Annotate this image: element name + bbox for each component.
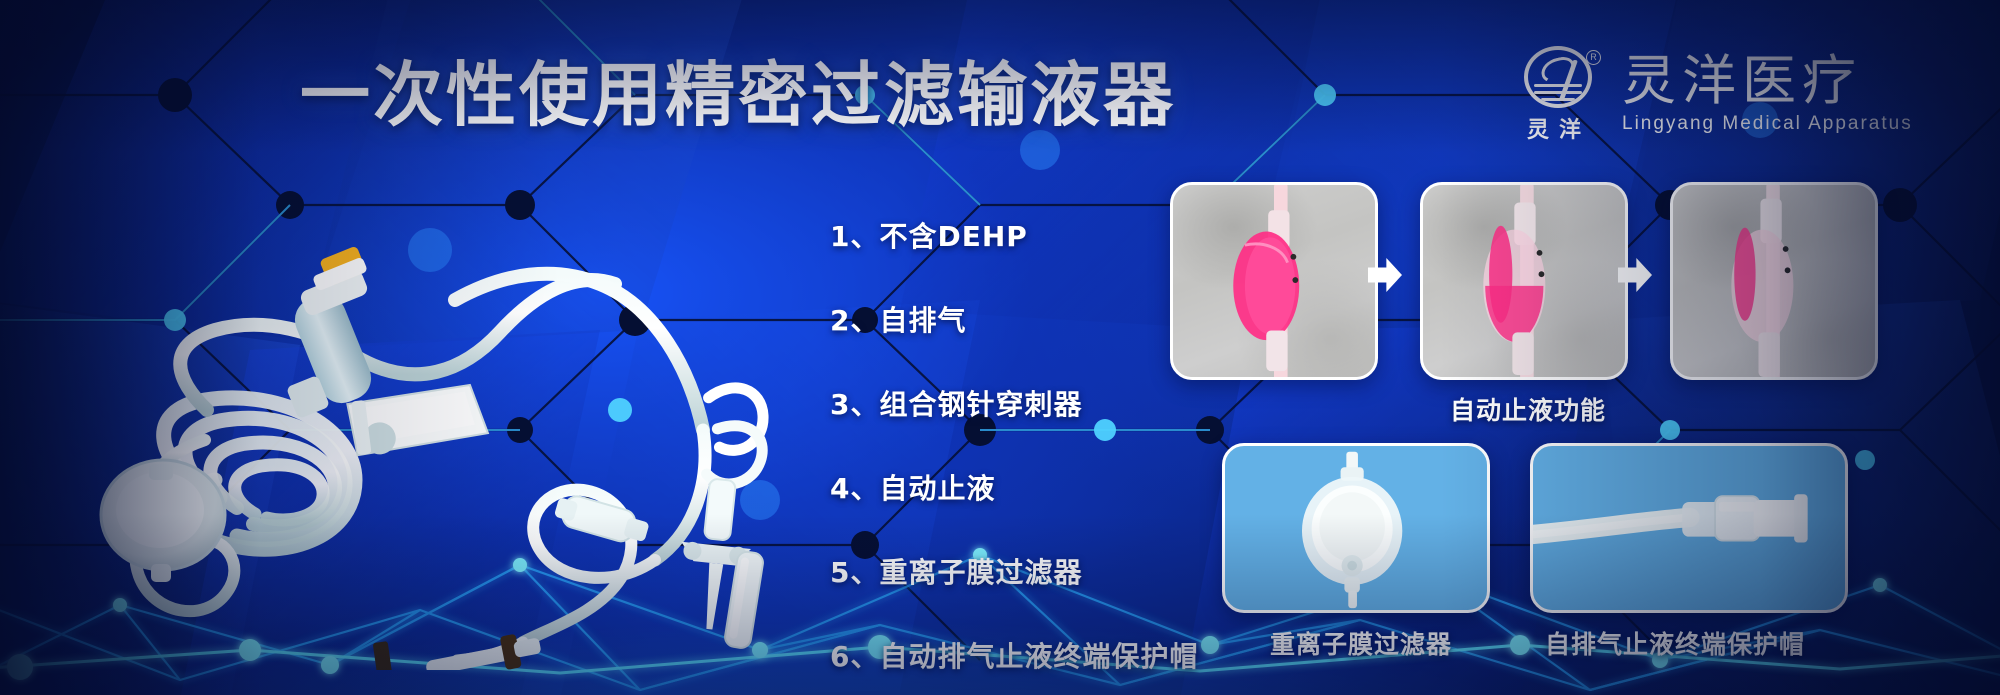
infusion-set-product-photo	[55, 180, 845, 670]
auto-stop-photo-2	[1420, 182, 1628, 380]
feature-item-6: 6、自动排气止液终端保护帽	[830, 635, 1190, 675]
feature-item-4: 4、自动止液	[830, 467, 1190, 507]
page-title: 一次性使用精密过滤输液器	[300, 44, 1320, 134]
emblem-wave-line-1	[1534, 84, 1582, 87]
auto-stop-photo-3-device	[1673, 185, 1875, 377]
protective-cap-photo-panel	[1530, 443, 1848, 613]
emblem-circle	[1524, 46, 1592, 108]
auto-stop-caption: 自动止液功能	[1450, 391, 1606, 427]
auto-stop-photo-1	[1170, 182, 1378, 380]
auto-stop-photo-2-device	[1423, 185, 1625, 377]
emblem-char-yang: 洋	[1559, 118, 1591, 143]
auto-stop-photo-3	[1670, 182, 1878, 380]
company-name-cn: 灵洋医疗	[1622, 53, 1913, 108]
feature-list: 1、不含DEHP 2、自排气 3、组合钢针穿刺器 4、自动止液 5、重离子膜过滤…	[830, 215, 1190, 675]
feature-item-5: 5、重离子膜过滤器	[830, 551, 1190, 591]
filter-photo-panel	[1222, 443, 1490, 613]
emblem-wave-line-2	[1534, 91, 1582, 94]
lingyang-emblem-icon: R 灵洋	[1520, 44, 1606, 144]
filter-caption: 重离子膜过滤器	[1270, 625, 1452, 661]
company-name-en: Lingyang Medical Apparatus	[1622, 113, 1913, 135]
product-banner: 一次性使用精密过滤输液器 R 灵洋 灵洋医疗 Lingyang Medical …	[0, 0, 2000, 695]
auto-stop-photo-1-device	[1173, 185, 1375, 377]
brand-logo-text: 灵洋医疗 Lingyang Medical Apparatus	[1622, 53, 1913, 135]
heavy-ion-filter-photo	[1225, 446, 1487, 610]
emblem-wave-line-3	[1541, 98, 1575, 101]
registered-trademark-icon: R	[1586, 50, 1601, 65]
brand-logo: R 灵洋 灵洋医疗 Lingyang Medical Apparatus	[1520, 44, 1950, 144]
emblem-char-ling: 灵	[1527, 118, 1559, 143]
feature-item-2: 2、自排气	[830, 299, 1190, 339]
protective-cap-caption: 自排气止液终端保护帽	[1545, 625, 1805, 661]
self-venting-cap-photo	[1533, 446, 1845, 610]
feature-item-1: 1、不含DEHP	[830, 215, 1190, 255]
emblem-chinese-characters: 灵洋	[1520, 112, 1598, 144]
feature-item-3: 3、组合钢针穿刺器	[830, 383, 1190, 423]
